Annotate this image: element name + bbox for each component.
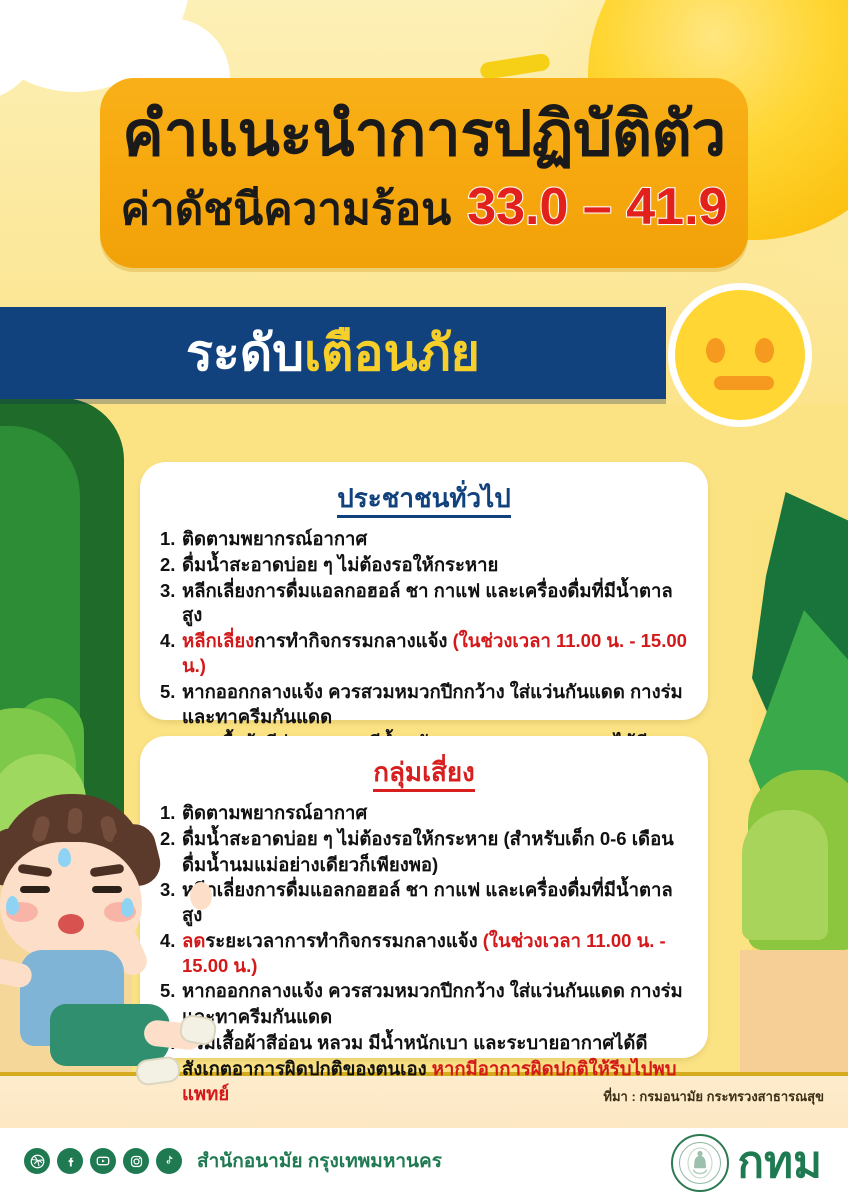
heat-index-line: ค่าดัชนีความร้อน 33.0 – 41.9 xyxy=(121,174,728,244)
youtube-icon[interactable] xyxy=(90,1148,116,1174)
advice-item-text: หากออกกลางแจ้ง ควรสวมหมวกปีกกว้าง ใส่แว่… xyxy=(182,979,683,1004)
advice-item: 2.ดื่มน้ำสะอาดบ่อย ๆ ไม่ต้องรอให้กระหาย xyxy=(160,553,688,578)
advice-item: 1.ติดตามพยากรณ์อากาศ xyxy=(160,801,688,826)
advice-item-text: สวมเสื้อผ้าสีอ่อน หลวม มีน้ำหนักเบา และร… xyxy=(182,1031,647,1056)
advice-item: 4.ลดระยะเวลาการทำกิจกรรมกลางแจ้ง (ในช่วง… xyxy=(160,929,688,979)
heat-index-value: 33.0 – 41.9 xyxy=(467,177,727,237)
dribbble-icon[interactable] xyxy=(24,1148,50,1174)
bma-branding: กทม xyxy=(671,1134,822,1192)
sweat-drop-icon xyxy=(6,896,19,915)
sweat-drop-icon xyxy=(121,898,134,917)
source-credit: ที่มา : กรมอนามัย กระทรวงสาธารณสุข xyxy=(603,1086,824,1107)
advice-item-text: ติดตามพยากรณ์อากาศ xyxy=(182,527,367,552)
overheated-boy-illustration xyxy=(0,790,204,1080)
emoji-eye-right xyxy=(755,338,774,363)
neutral-face-emoji xyxy=(668,283,812,427)
emoji-eye-left xyxy=(706,338,725,363)
advice-item-continuation: และทาครีมกันแดด xyxy=(160,705,688,730)
alert-level-banner: ระดับเตือนภัย xyxy=(0,307,666,399)
advice-item: 1.ติดตามพยากรณ์อากาศ xyxy=(160,527,688,552)
advice-item-text: ติดตามพยากรณ์อากาศ xyxy=(182,801,367,826)
advice-item-number: 4. xyxy=(160,629,182,654)
advice-item: 3.หลีกเลี่ยงการดื่มแอลกอฮอล์ ชา กาแฟ และ… xyxy=(160,579,688,629)
emoji-mouth xyxy=(714,376,774,390)
advice-item-text: หลีกเลี่ยงการดื่มแอลกอฮอล์ ชา กาแฟ และเค… xyxy=(182,579,688,629)
advice-item-number: 3. xyxy=(160,579,182,604)
foliage-right xyxy=(740,470,848,1000)
title-pill: คำแนะนำการปฏิบัติตัว ค่าดัชนีความร้อน 33… xyxy=(100,78,748,268)
advice-item-text: หลีกเลี่ยงการทำกิจกรรมกลางแจ้ง (ในช่วงเว… xyxy=(182,629,688,679)
advice-item-text: ลดระยะเวลาการทำกิจกรรมกลางแจ้ง (ในช่วงเว… xyxy=(182,929,688,979)
heat-index-label: ค่าดัชนีความร้อน xyxy=(121,174,452,244)
advice-item: 5.หากออกกลางแจ้ง ควรสวมหมวกปีกกว้าง ใส่แ… xyxy=(160,680,688,705)
advice-item: 4.หลีกเลี่ยงการทำกิจกรรมกลางแจ้ง (ในช่วง… xyxy=(160,629,688,679)
advice-item-number: 2. xyxy=(160,553,182,578)
advice-item-number: 5. xyxy=(160,680,182,705)
alert-prefix: ระดับ xyxy=(186,325,304,381)
bma-seal-icon xyxy=(671,1134,729,1192)
sweat-drop-icon xyxy=(58,848,71,867)
advice-item-number: 1. xyxy=(160,527,182,552)
alert-level: เตือนภัย xyxy=(304,325,480,381)
advice-item-text: ดื่มน้ำสะอาดบ่อย ๆ ไม่ต้องรอให้กระหาย (ส… xyxy=(182,827,674,852)
advice-item: 6.สวมเสื้อผ้าสีอ่อน หลวม มีน้ำหนักเบา แล… xyxy=(160,1031,688,1056)
alert-level-text: ระดับเตือนภัย xyxy=(186,328,480,378)
advice-item-text: ดื่มน้ำสะอาดบ่อย ๆ ไม่ต้องรอให้กระหาย xyxy=(182,553,498,578)
advice-item: 3.หลีกเลี่ยงการดื่มแอลกอฮอล์ ชา กาแฟ และ… xyxy=(160,878,688,928)
card-heading: กลุ่มเสี่ยง xyxy=(160,752,688,793)
organization-name: สำนักอนามัย กรุงเทพมหานคร xyxy=(197,1146,442,1176)
facebook-icon[interactable] xyxy=(57,1148,83,1174)
advice-card-risk-group: กลุ่มเสี่ยง 1.ติดตามพยากรณ์อากาศ2.ดื่มน้… xyxy=(140,736,708,1058)
advice-list: 1.ติดตามพยากรณ์อากาศ2.ดื่มน้ำสะอาดบ่อย ๆ… xyxy=(160,801,688,1106)
advice-item-text: หากออกกลางแจ้ง ควรสวมหมวกปีกกว้าง ใส่แว่… xyxy=(182,680,683,705)
advice-item-continuation: ดื่มน้ำนมแม่อย่างเดียวก็เพียงพอ) xyxy=(160,853,688,878)
page-title: คำแนะนำการปฏิบัติตัว xyxy=(122,102,725,167)
tiktok-icon[interactable] xyxy=(156,1148,182,1174)
advice-item: 5.หากออกกลางแจ้ง ควรสวมหมวกปีกกว้าง ใส่แ… xyxy=(160,979,688,1004)
advice-card-general-public: ประชาชนทั่วไป 1.ติดตามพยากรณ์อากาศ2.ดื่ม… xyxy=(140,462,708,720)
card-heading: ประชาชนทั่วไป xyxy=(160,478,688,519)
instagram-icon[interactable] xyxy=(123,1148,149,1174)
bma-label: กทม xyxy=(737,1141,822,1185)
advice-item-text: หลีกเลี่ยงการดื่มแอลกอฮอล์ ชา กาแฟ และเค… xyxy=(182,878,688,928)
advice-item: 2.ดื่มน้ำสะอาดบ่อย ๆ ไม่ต้องรอให้กระหาย … xyxy=(160,827,688,852)
advice-item-continuation: และทาครีมกันแดด xyxy=(160,1005,688,1030)
boy-face xyxy=(0,842,142,958)
advice-list: 1.ติดตามพยากรณ์อากาศ2.ดื่มน้ำสะอาดบ่อย ๆ… xyxy=(160,527,688,756)
sand-right xyxy=(740,950,848,1072)
infographic-poster: คำแนะนำการปฏิบัติตัว ค่าดัชนีความร้อน 33… xyxy=(0,0,848,1200)
social-links: สำนักอนามัย กรุงเทพมหานคร xyxy=(24,1146,442,1176)
